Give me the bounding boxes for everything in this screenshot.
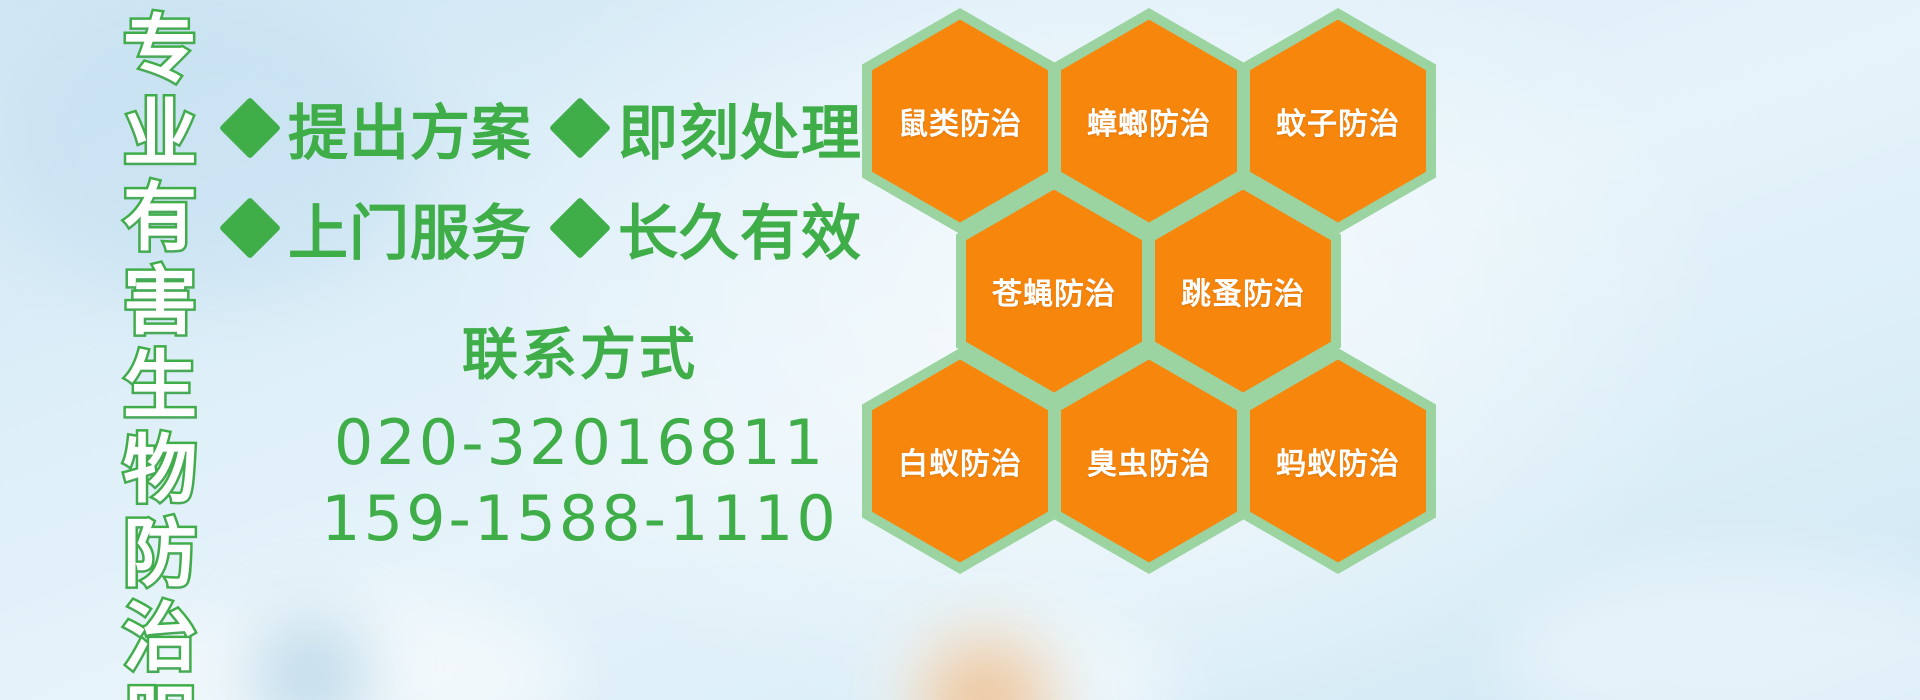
selling-point-label: 上门服务 xyxy=(288,185,532,272)
service-hex-label: 跳蚤防治 xyxy=(1181,269,1305,313)
headline-char: 治 xyxy=(123,596,197,680)
selling-point-label: 提出方案 xyxy=(288,85,532,172)
headline-char: 业 xyxy=(123,92,197,176)
hex-inner: 苍蝇防治 xyxy=(966,190,1142,393)
headline-char: 服 xyxy=(123,680,197,700)
selling-point-item: 长久有效 xyxy=(558,185,862,272)
selling-points: 提出方案 即刻处理 上门服务 长久有效 xyxy=(228,78,868,278)
headline-char: 有 xyxy=(123,176,197,260)
background-blob xyxy=(250,615,370,700)
service-hex-label: 苍蝇防治 xyxy=(992,269,1116,313)
headline-char: 害 xyxy=(123,260,197,344)
contact-phone-landline[interactable]: 020-32016811 xyxy=(300,405,860,481)
headline-char: 防 xyxy=(123,512,197,596)
service-hex-label: 臭虫防治 xyxy=(1087,439,1211,483)
service-hex-label: 蚊子防治 xyxy=(1276,99,1400,143)
contact-phone-mobile[interactable]: 159-1588-1110 xyxy=(300,481,860,557)
contact-title: 联系方式 xyxy=(300,310,860,391)
selling-point-item: 上门服务 xyxy=(228,185,532,272)
service-hex-label: 蚂蚁防治 xyxy=(1276,439,1400,483)
selling-point-label: 长久有效 xyxy=(618,185,862,272)
service-hex-label: 蟑螂防治 xyxy=(1087,99,1211,143)
diamond-icon xyxy=(549,197,611,259)
contact-block: 联系方式 020-32016811 159-1588-1110 xyxy=(300,310,860,557)
promo-banner: 专 业 有 害 生 物 防 治 服 务 提出方案 即刻处理 上门服务 xyxy=(0,0,1920,700)
diamond-icon xyxy=(549,97,611,159)
hex-inner: 蚂蚁防治 xyxy=(1250,360,1426,563)
selling-point-item: 提出方案 xyxy=(228,85,532,172)
service-hex-label: 白蚁防治 xyxy=(898,439,1022,483)
hex-inner: 蚊子防治 xyxy=(1250,20,1426,223)
selling-point-item: 即刻处理 xyxy=(558,85,862,172)
selling-point-label: 即刻处理 xyxy=(618,85,862,172)
vertical-headline: 专 业 有 害 生 物 防 治 服 务 xyxy=(106,8,214,692)
selling-points-row: 上门服务 长久有效 xyxy=(228,178,868,278)
background-blob xyxy=(880,615,1180,700)
hex-inner: 鼠类防治 xyxy=(872,20,1048,223)
background-blob xyxy=(920,640,1050,700)
headline-char: 生 xyxy=(123,344,197,428)
headline-char: 物 xyxy=(123,428,197,512)
background-blob xyxy=(1500,560,1920,700)
selling-points-row: 提出方案 即刻处理 xyxy=(228,78,868,178)
hex-inner: 白蚁防治 xyxy=(872,360,1048,563)
service-hex-label: 鼠类防治 xyxy=(898,99,1022,143)
hex-inner: 跳蚤防治 xyxy=(1155,190,1331,393)
diamond-icon xyxy=(219,97,281,159)
hex-inner: 蟑螂防治 xyxy=(1061,20,1237,223)
headline-char: 专 xyxy=(123,8,197,92)
service-honeycomb: 鼠类防治 蟑螂防治 蚊子防治 苍蝇防治 跳蚤防治 白蚁防治 xyxy=(846,0,1486,580)
diamond-icon xyxy=(219,197,281,259)
hex-inner: 臭虫防治 xyxy=(1061,360,1237,563)
